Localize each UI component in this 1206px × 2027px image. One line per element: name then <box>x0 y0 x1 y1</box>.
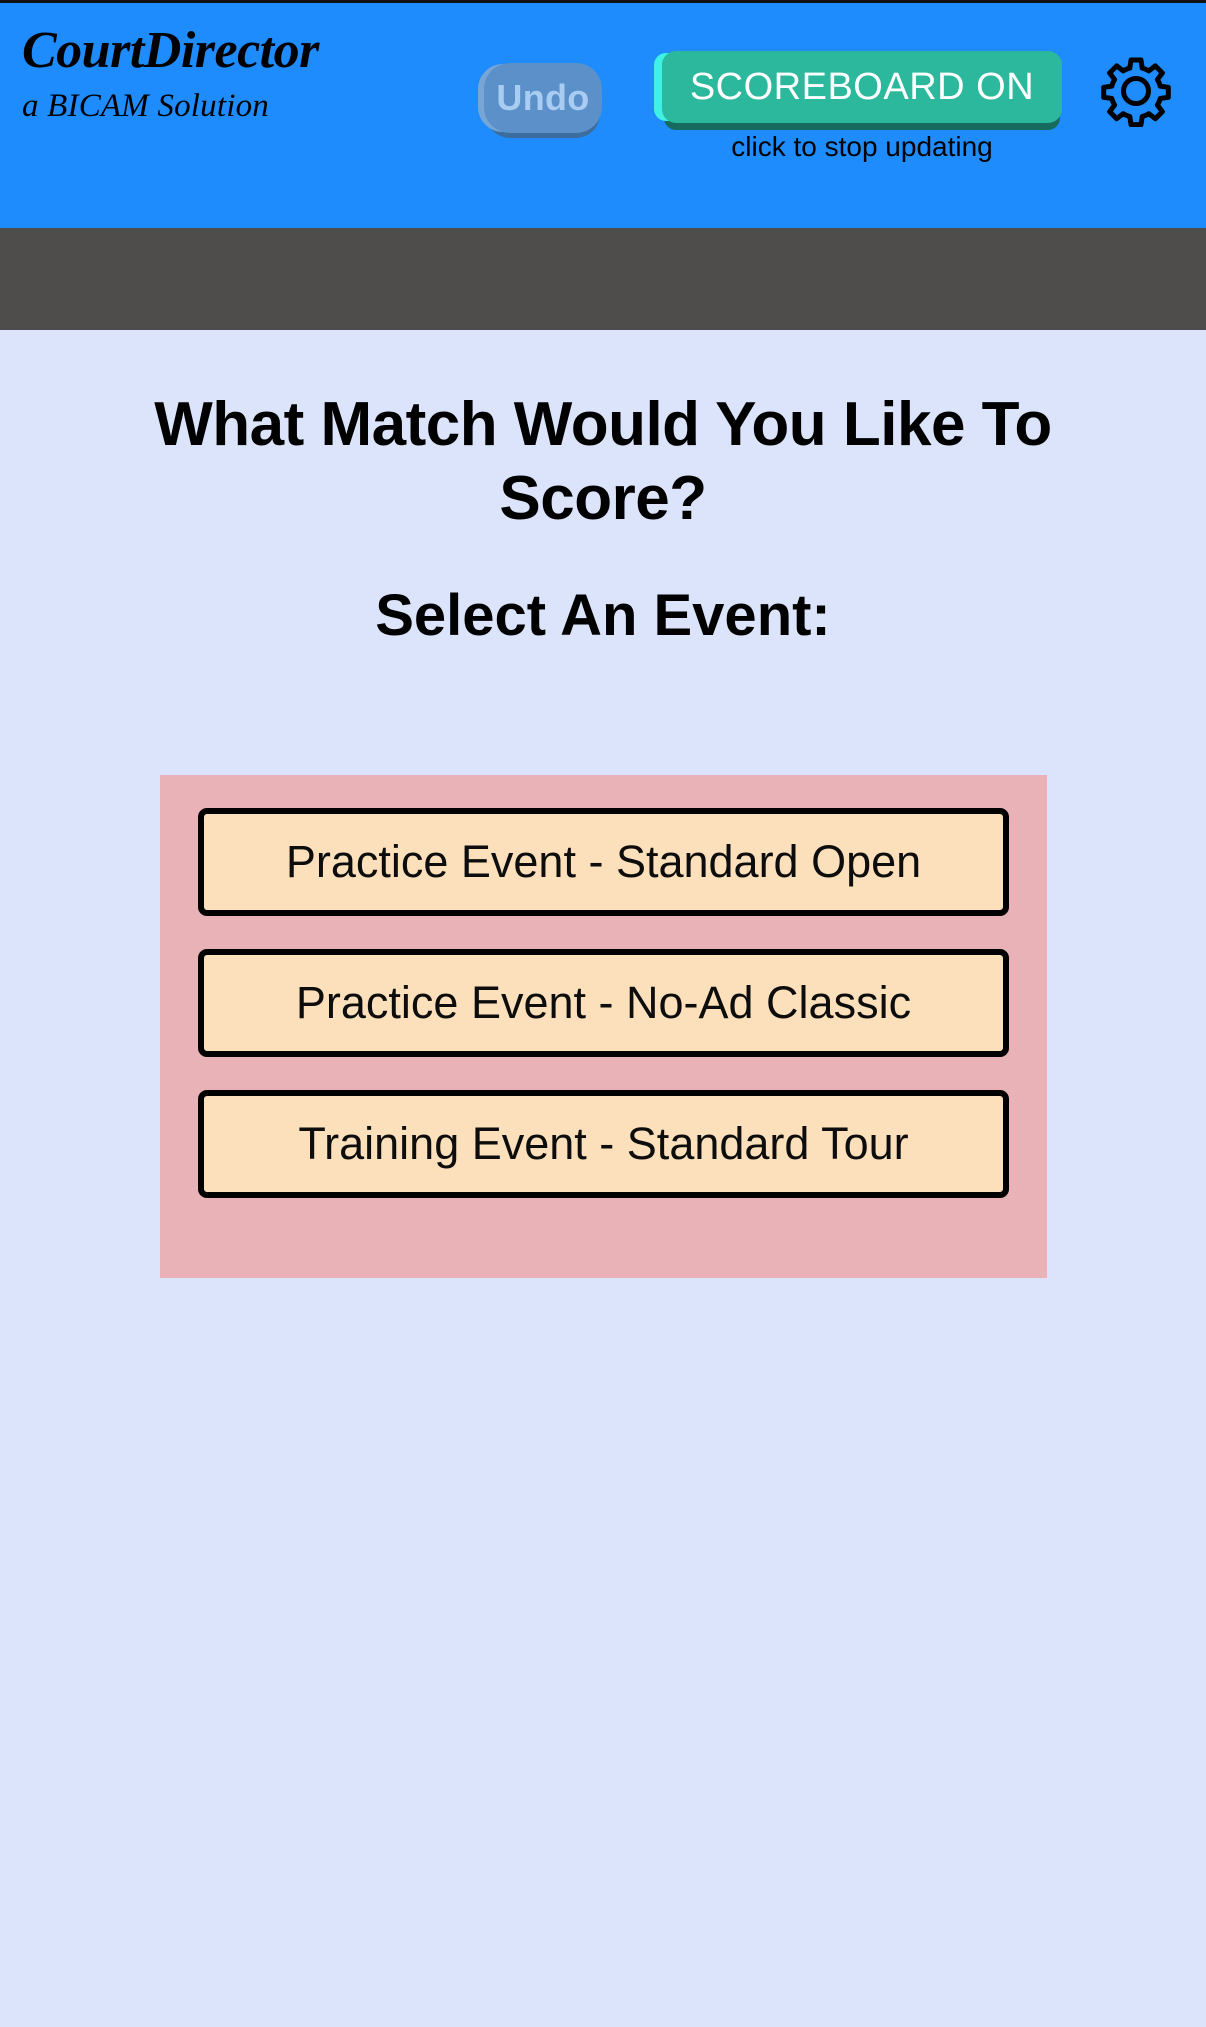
scoreboard-hint-text: click to stop updating <box>662 131 1062 163</box>
undo-button[interactable]: Undo <box>484 63 602 133</box>
app-header: CourtDirector a BICAM Solution Undo SCOR… <box>0 3 1206 228</box>
main-content: What Match Would You Like To Score? Sele… <box>0 330 1206 2027</box>
event-option-button[interactable]: Training Event - Standard Tour <box>198 1090 1009 1198</box>
scoreboard-toggle-button[interactable]: SCOREBOARD ON <box>662 51 1062 123</box>
event-option-button[interactable]: Practice Event - Standard Open <box>198 808 1009 916</box>
app-brand: CourtDirector a BICAM Solution <box>22 23 462 127</box>
secondary-toolbar <box>0 228 1206 330</box>
select-event-prompt: Select An Event: <box>0 536 1206 648</box>
app-title: CourtDirector <box>22 23 462 79</box>
event-option-button[interactable]: Practice Event - No-Ad Classic <box>198 949 1009 1057</box>
gear-icon <box>1100 55 1172 127</box>
undo-button-wrap: Undo <box>484 63 602 133</box>
app-subtitle: a BICAM Solution <box>22 85 462 127</box>
page-title: What Match Would You Like To Score? <box>0 330 1206 536</box>
event-list-panel: Practice Event - Standard Open Practice … <box>160 775 1047 1278</box>
scoreboard-button-wrap: SCOREBOARD ON <box>662 51 1062 123</box>
settings-button[interactable] <box>1100 55 1172 127</box>
